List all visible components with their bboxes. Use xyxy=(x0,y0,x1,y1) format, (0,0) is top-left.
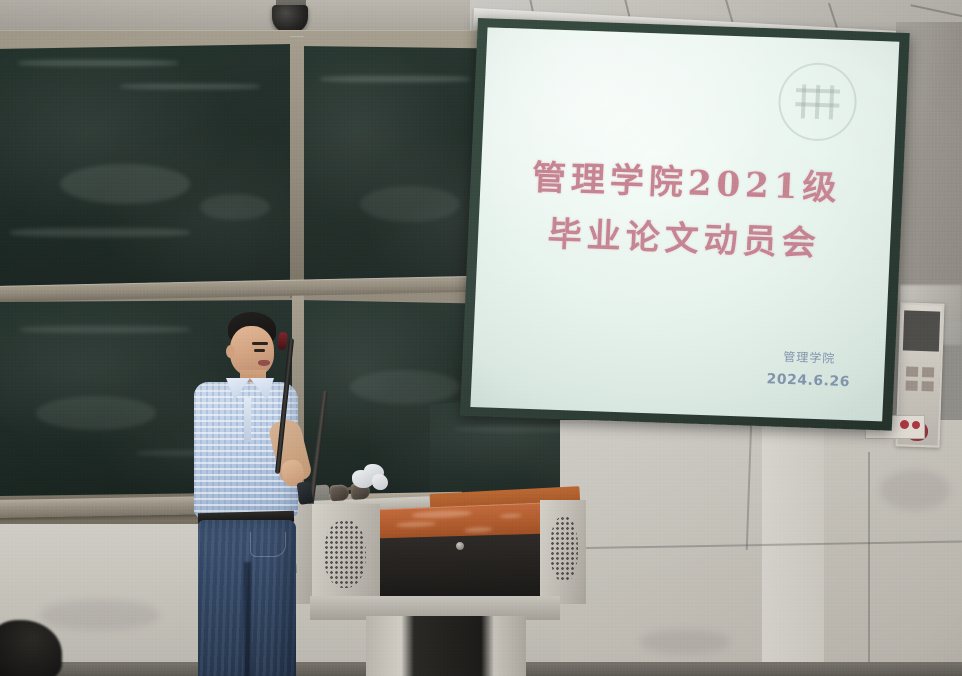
projector-screen[interactable]: 管理学院2021级 毕业论文动员会 管理学院 2024.6.26 xyxy=(460,18,910,433)
university-seal-icon xyxy=(777,62,858,143)
lectern-pedestal xyxy=(366,616,526,676)
lectern[interactable] xyxy=(282,486,584,676)
presenter-head xyxy=(230,326,274,376)
slide-title-line-1: 管理学院2021级 xyxy=(480,159,893,209)
speaker-grille-right xyxy=(550,516,578,582)
slide-footer-date: 2024.6.26 xyxy=(766,367,850,394)
slide-title-line-2: 毕业论文动员会 xyxy=(477,215,890,265)
presenter-shirt-placket xyxy=(244,398,251,442)
lecture-hall-photo: 管理学院2021级 毕业论文动员会 管理学院 2024.6.26 xyxy=(0,0,962,676)
wall-seam-vertical xyxy=(868,452,870,676)
slide-footer: 管理学院 2024.6.26 xyxy=(766,346,851,394)
presenter-jeans-seam xyxy=(244,562,251,676)
presenter-ear xyxy=(226,345,235,358)
slide-footer-org: 管理学院 xyxy=(767,346,851,370)
smartphone[interactable] xyxy=(297,481,314,505)
microphone-capsule xyxy=(277,332,288,351)
slide-title-block: 管理学院2021级 毕业论文动员会 xyxy=(477,159,893,265)
presenter-jeans-pocket xyxy=(250,532,286,557)
presenter xyxy=(178,312,318,676)
presenter-mouth xyxy=(258,360,270,366)
slide-surface: 管理学院2021级 毕业论文动员会 管理学院 2024.6.26 xyxy=(470,27,899,421)
lectern-lock[interactable] xyxy=(456,542,464,550)
tissue-paper[interactable] xyxy=(352,464,388,492)
dome-camera-icon xyxy=(272,5,308,33)
blackboard-panel-top-left xyxy=(0,44,292,290)
blackboard-mullion-vertical-1 xyxy=(290,36,304,298)
speaker-grille-left xyxy=(324,520,366,588)
